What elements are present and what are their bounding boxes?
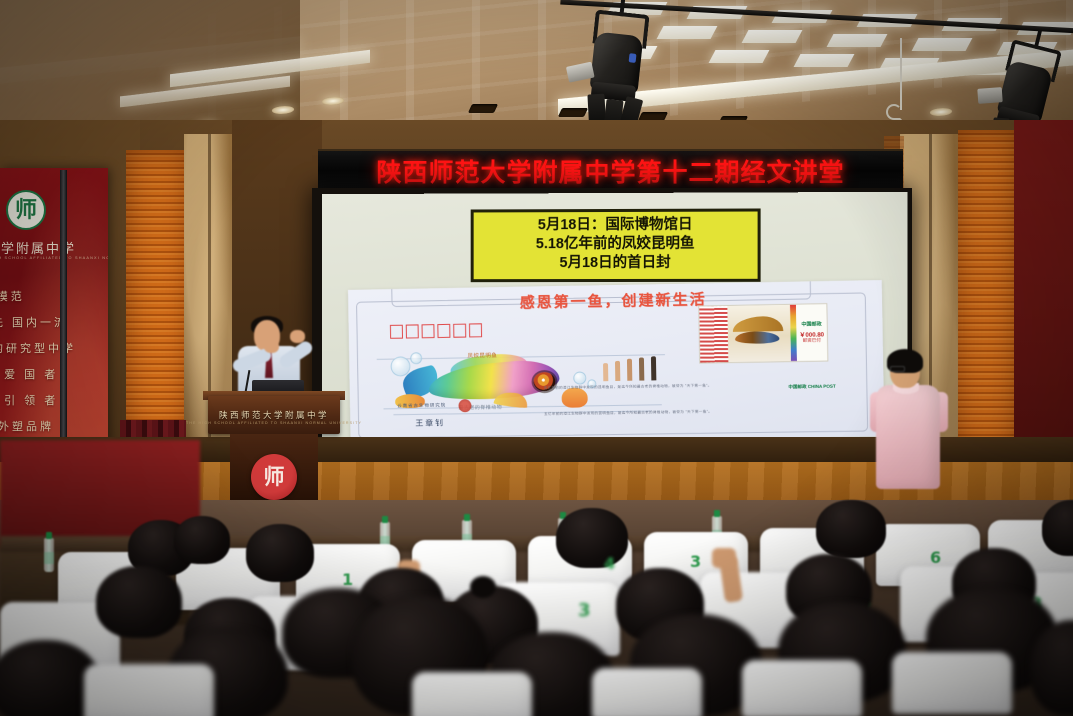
banner-slogan: 定 的 爱 国 者 bbox=[0, 366, 58, 382]
seat-number: 3 bbox=[690, 552, 701, 571]
postcode-box bbox=[422, 324, 435, 338]
raised-hand bbox=[712, 548, 736, 568]
stamp-fish-shape bbox=[735, 331, 779, 344]
seat-number: 3 bbox=[578, 600, 591, 621]
lecture-hall-photo: 陕西师范大学附属中学第十二期经文讲堂 5月18日：国际博物馆日 5.18亿年前的… bbox=[0, 0, 1073, 716]
envelope-institute-logo-text: 云南省古生物研究院 bbox=[397, 403, 446, 410]
slide-title-line: 5月18日：国际博物馆日 bbox=[480, 216, 752, 236]
stamp-sub-text: 邮资已付 bbox=[803, 338, 821, 343]
envelope-china-post-logo: 中国邮政 CHINA POST bbox=[788, 384, 836, 391]
school-logo-icon: 师 bbox=[6, 190, 46, 230]
postage-stamp: 中国邮政 ￥000.80 邮资已付 bbox=[698, 303, 828, 363]
ceiling-panel-light bbox=[657, 26, 718, 39]
slide-title-box: 5月18日：国际博物馆日 5.18亿年前的凤姣昆明鱼 5月18日的首日封 bbox=[471, 208, 761, 282]
water-bottle bbox=[44, 538, 54, 572]
fish-label: 凤姣昆明鱼 bbox=[467, 351, 497, 359]
projection-screen: 5月18日：国际博物馆日 5.18亿年前的凤姣昆明鱼 5月18日的首日封 感恩第… bbox=[322, 192, 908, 452]
postcode-boxes bbox=[390, 323, 482, 339]
evolution-figure bbox=[639, 358, 644, 381]
seat-number: 1 bbox=[342, 570, 353, 589]
podium-school-name-en: THE HIGH SCHOOL AFFILIATED TO SHAANXI NO… bbox=[186, 421, 362, 425]
hair-bun bbox=[470, 576, 496, 598]
projection-screen-frame: 5月18日：国际博物馆日 5.18亿年前的凤姣昆明鱼 5月18日的首日封 感恩第… bbox=[312, 188, 912, 460]
postcode-box bbox=[406, 324, 419, 338]
audience-head bbox=[816, 500, 886, 558]
led-banner: 陕西师范大学附属中学第十二期经文讲堂 bbox=[318, 149, 903, 191]
ceiling-panel-light bbox=[742, 30, 803, 43]
ceiling-air-slot bbox=[558, 108, 588, 117]
evolution-figure bbox=[651, 356, 656, 380]
banner-school-name-en: HIGH SCHOOL AFFILIATED TO SHAANXI NORMAL… bbox=[0, 256, 108, 260]
banner-slogan: 代 的 引 领 者 bbox=[0, 392, 58, 408]
audience-head bbox=[96, 566, 182, 638]
lecturer-hand-right bbox=[290, 330, 305, 343]
hanging-hook-icon bbox=[886, 104, 902, 120]
chair bbox=[592, 668, 702, 716]
audience-head bbox=[174, 516, 230, 564]
school-emblem-icon: 师 bbox=[251, 454, 297, 500]
seat-number: 6 bbox=[930, 548, 941, 567]
ceiling-air-slot bbox=[468, 104, 498, 113]
slide-title-line: 5月18日的首日封 bbox=[480, 254, 752, 274]
china-post-logo: 中国邮政 bbox=[801, 322, 821, 327]
audience-head bbox=[246, 524, 314, 582]
first-day-cover-envelope: 感恩第一鱼，创建新生活 bbox=[348, 280, 885, 444]
podium: 陕西师范大学附属中学 THE HIGH SCHOOL AFFILIATED TO… bbox=[208, 396, 340, 506]
standing-staff-member bbox=[874, 352, 944, 512]
ceiling-panel-light bbox=[912, 38, 973, 51]
postcode-box bbox=[469, 323, 482, 337]
ceiling-panel-light bbox=[794, 54, 855, 67]
audience-head bbox=[556, 508, 628, 568]
envelope-signature: 王章钊 bbox=[415, 417, 445, 428]
slide-title-line: 5.18亿年前的凤姣昆明鱼 bbox=[480, 235, 752, 255]
seat-number: 4 bbox=[604, 554, 615, 573]
evolution-figure bbox=[615, 361, 620, 381]
banner-slogan: 品质 外塑品牌 bbox=[0, 418, 54, 434]
postcode-box bbox=[453, 324, 466, 338]
ceiling-panel-light bbox=[709, 50, 770, 63]
spotlight-barn-door bbox=[977, 87, 1002, 104]
qr-code-icon bbox=[699, 306, 728, 363]
podium-school-name: 陕西师范大学附属中学 bbox=[219, 409, 329, 421]
led-banner-text: 陕西师范大学附属中学第十二期经文讲堂 bbox=[376, 153, 844, 189]
evolution-figure bbox=[603, 363, 608, 381]
banner-slogan: 国 · 模范 bbox=[0, 288, 25, 304]
stamp-post-panel: 中国邮政 ￥000.80 邮资已付 bbox=[796, 304, 827, 361]
postcode-box bbox=[390, 325, 403, 339]
bubble-icon bbox=[573, 371, 586, 384]
hanging-cable bbox=[900, 38, 902, 110]
chair bbox=[84, 664, 214, 716]
chair bbox=[742, 660, 862, 716]
glasses-icon bbox=[890, 366, 905, 372]
school-logo-char: 师 bbox=[15, 199, 37, 221]
postcode-box bbox=[437, 324, 450, 338]
school-emblem-char: 师 bbox=[264, 467, 285, 488]
chair bbox=[412, 672, 532, 716]
envelope-seal-stamp bbox=[458, 399, 471, 412]
stamp-illustration bbox=[727, 305, 791, 362]
myllokunmingia-fish-illustration: 凤姣昆明鱼 最古老的脊椎动物 bbox=[377, 346, 676, 420]
evolution-figure bbox=[627, 359, 632, 381]
ceiling-downlight bbox=[928, 108, 954, 116]
stamp-dune-shape bbox=[733, 316, 783, 331]
chair bbox=[892, 652, 1012, 714]
banner-slogan: 内领先 国内一流 bbox=[0, 314, 68, 330]
ceiling-panel-light bbox=[827, 34, 888, 47]
pink-polo-shirt bbox=[876, 385, 940, 489]
lecturer-hand-left bbox=[264, 340, 279, 353]
spotlight-indicator-icon bbox=[629, 53, 637, 63]
envelope-headline: 感恩第一鱼，创建新生活 bbox=[520, 288, 707, 312]
podium-front-panel: 陕西师范大学附属中学 THE HIGH SCHOOL AFFILIATED TO… bbox=[208, 396, 340, 434]
bubble-icon bbox=[410, 352, 422, 364]
